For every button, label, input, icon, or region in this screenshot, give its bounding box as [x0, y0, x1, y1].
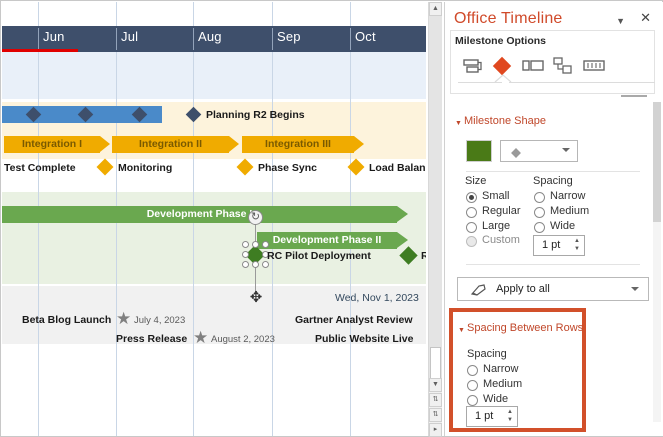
task-bar-label: Integration II [112, 136, 229, 153]
date-label-july-4: July 4, 2023 [134, 315, 185, 326]
star-icon: ★ [116, 310, 131, 327]
section-divider [466, 171, 640, 172]
next-slide-button[interactable]: ⇅ [429, 408, 442, 422]
spinner-up-icon-2[interactable]: ▲ [507, 409, 513, 416]
radio-rows-wide[interactable] [467, 395, 478, 406]
powerpoint-window: Jun Jul Aug Sep Oct Planning R2 Begins I… [0, 0, 663, 437]
date-label-august-2: August 2, 2023 [211, 334, 275, 345]
month-divider [272, 28, 273, 50]
card-icon-svg [519, 54, 547, 78]
milestone-label-load-balance[interactable]: Load Balance [369, 162, 426, 174]
diamond-icon [510, 147, 522, 159]
spacing-between-rows-heading: Spacing Between Rows [467, 322, 583, 334]
task-bar-integration-3[interactable]: Integration III [242, 136, 354, 153]
spacing-label: Spacing [533, 175, 573, 187]
milestone-label-press-release[interactable]: Press Release [116, 333, 187, 345]
month-divider [193, 28, 194, 50]
task-bar-development-2[interactable]: Development Phase II [257, 232, 397, 249]
resize-handle-w[interactable] [242, 251, 249, 258]
label-spacing-medium[interactable]: Medium [550, 205, 589, 217]
month-divider [38, 28, 39, 50]
milestone-label-monitoring[interactable]: Monitoring [118, 162, 172, 174]
star-icon: ★ [193, 329, 208, 346]
scrollbar-track[interactable] [429, 16, 442, 378]
month-divider [350, 28, 351, 50]
rows-spacing-spinner[interactable]: 1 pt ▲ ▼ [466, 406, 518, 427]
milestone-label-planning-r2[interactable]: Planning R2 Begins [206, 109, 305, 121]
month-divider [116, 28, 117, 50]
office-timeline-panel: Office Timeline ▼ ✕ Milestone Options [444, 2, 663, 436]
milestone-label-beta-blog[interactable]: Beta Blog Launch [22, 314, 111, 326]
month-label-oct: Oct [355, 29, 376, 44]
milestone-options-label: Milestone Options [455, 35, 546, 47]
milestone-shape-heading: Milestone Shape [464, 115, 546, 127]
card-icon[interactable] [519, 54, 547, 78]
slide-menu-button[interactable]: ▸ [429, 423, 442, 437]
radio-spacing-narrow[interactable] [534, 192, 545, 203]
label-size-regular[interactable]: Regular [482, 205, 521, 217]
panel-scrollbar-thumb[interactable] [653, 102, 661, 222]
spinner-down-icon[interactable]: ▼ [574, 246, 580, 253]
radio-rows-narrow[interactable] [467, 365, 478, 376]
swimlane-icon[interactable] [549, 54, 577, 78]
task-bar-label: Integration I [4, 136, 100, 153]
task-bar-arrow [397, 232, 408, 248]
month-label-sep: Sep [277, 29, 301, 44]
tab-pointer-icon [494, 74, 512, 83]
radio-spacing-medium[interactable] [534, 207, 545, 218]
chevron-down-icon [562, 148, 570, 152]
section-collapse-caret-icon[interactable]: ▼ [455, 120, 462, 127]
label-spacing-wide[interactable]: Wide [550, 220, 575, 232]
previous-slide-button[interactable]: ⇅ [429, 393, 442, 407]
milestone-label-public-website[interactable]: Public Website Live [315, 333, 413, 345]
task-bar-integration-1[interactable]: Integration I [4, 136, 100, 153]
close-icon[interactable]: ✕ [640, 11, 651, 24]
task-bar-arrow [397, 206, 408, 222]
spacing-value: 1 pt [542, 239, 560, 251]
spacing-spinner[interactable]: 1 pt ▲ ▼ [533, 235, 585, 256]
task-bar-arrow [229, 136, 239, 152]
radio-size-large[interactable] [466, 222, 477, 233]
date-label-nov-1[interactable]: Wed, Nov 1, 2023 [335, 292, 419, 304]
label-rows-wide[interactable]: Wide [483, 393, 508, 405]
milestone-label-rc-pilot[interactable]: RC Pilot Deployment [267, 250, 371, 262]
task-bar-arrow [100, 136, 110, 152]
row-background-white [2, 344, 426, 436]
spinner-down-icon-2[interactable]: ▼ [507, 417, 513, 424]
timeband-icon-svg [580, 54, 608, 78]
spinner-up-icon[interactable]: ▲ [574, 238, 580, 245]
resize-handle-n[interactable] [252, 241, 259, 248]
resize-handle-sw[interactable] [242, 261, 249, 268]
format-painter-icon [470, 283, 488, 297]
size-label: Size [465, 175, 486, 187]
label-spacing-narrow[interactable]: Narrow [550, 190, 585, 202]
resize-handle-nw[interactable] [242, 241, 249, 248]
apply-to-all-label: Apply to all [496, 283, 550, 295]
month-label-jun: Jun [43, 29, 65, 44]
task-bar-integration-2[interactable]: Integration II [112, 136, 229, 153]
radio-size-small[interactable] [466, 192, 477, 203]
swimlane-icon-svg [549, 54, 577, 78]
row-background-blue [2, 52, 426, 99]
panel-scrollbar[interactable] [653, 102, 661, 422]
label-rows-medium[interactable]: Medium [483, 378, 522, 390]
slide-vertical-scrollbar[interactable]: ▲ ▼ ⇅ ⇅ ▸ [428, 2, 442, 436]
scroll-down-button[interactable]: ▼ [429, 378, 442, 392]
label-size-custom: Custom [482, 234, 520, 246]
apply-to-all-button[interactable]: Apply to all [457, 277, 649, 301]
month-label-aug: Aug [198, 29, 222, 44]
section-divider-2 [466, 264, 640, 265]
move-cursor-icon: ✥ [247, 289, 265, 307]
chevron-down-icon[interactable] [631, 287, 639, 291]
milestone-label-gartner[interactable]: Gartner Analyst Review [295, 314, 413, 326]
tasks-icon[interactable] [458, 54, 486, 78]
radio-size-custom[interactable] [466, 236, 477, 247]
panel-title: Office Timeline [454, 10, 563, 28]
task-bar-label: Development Phase II [257, 232, 397, 249]
rows-spacing-label: Spacing [467, 348, 507, 360]
milestone-label-test-complete[interactable]: Test Complete [4, 162, 76, 174]
task-bar-label: Integration III [242, 136, 354, 153]
rotate-handle[interactable]: ↻ [248, 210, 263, 225]
timeband-icon[interactable] [580, 54, 608, 78]
milestone-label-phase-sync[interactable]: Phase Sync [258, 162, 317, 174]
task-bar-development-1[interactable]: Development Phase I [2, 206, 397, 223]
section-collapse-caret-icon-2[interactable]: ▼ [458, 327, 465, 334]
radio-rows-medium[interactable] [467, 380, 478, 391]
radio-size-regular[interactable] [466, 207, 477, 218]
milestone-shape-dropdown[interactable] [500, 140, 578, 162]
rows-spacing-value: 1 pt [475, 410, 493, 422]
label-size-small[interactable]: Small [482, 190, 510, 202]
radio-spacing-wide[interactable] [534, 222, 545, 233]
task-bar-arrow [354, 136, 364, 152]
milestone-color-swatch[interactable] [466, 140, 492, 162]
scroll-up-button[interactable]: ▲ [429, 2, 442, 16]
label-rows-narrow[interactable]: Narrow [483, 363, 518, 375]
milestone-label-rtw[interactable]: RTW [421, 250, 426, 262]
chevron-down-icon[interactable]: ▼ [616, 16, 625, 26]
tasks-icon-svg [458, 54, 486, 78]
slide-canvas[interactable]: Jun Jul Aug Sep Oct Planning R2 Begins I… [2, 2, 426, 436]
resize-handle-s[interactable] [252, 261, 259, 268]
today-marker-underline [2, 49, 78, 52]
resize-handle-ne[interactable] [262, 241, 269, 248]
panel-resize-handle[interactable] [621, 95, 647, 97]
task-bar-label: Development Phase I [2, 206, 397, 223]
month-label-jul: Jul [121, 29, 138, 44]
tab-underline-right [509, 82, 655, 83]
resize-handle-se[interactable] [262, 261, 269, 268]
label-size-large[interactable]: Large [482, 220, 510, 232]
